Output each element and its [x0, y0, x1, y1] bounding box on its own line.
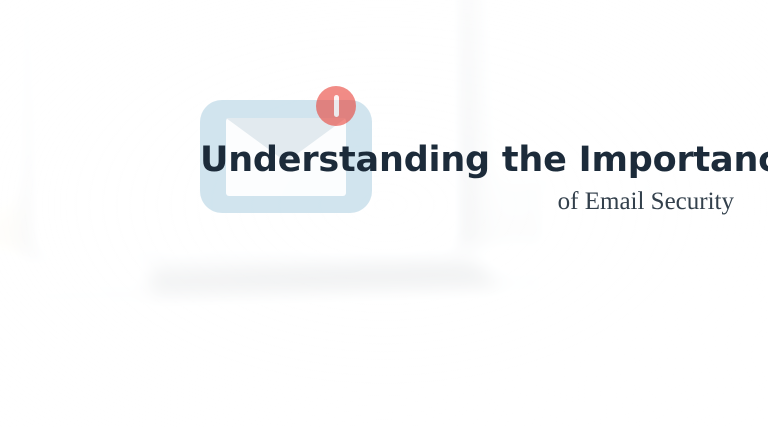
- sidebar-row: [48, 32, 66, 38]
- mail-subject: [194, 0, 390, 12]
- blog-header-banner: Understanding the Importance of Email Se…: [0, 0, 768, 427]
- sidebar-row: [49, 63, 79, 69]
- mail-sender: [128, 94, 180, 101]
- mail-sender: [129, 210, 183, 216]
- sidebar-row: [49, 111, 93, 118]
- mail-time: [422, 234, 445, 240]
- page-title: Understanding the Importance: [200, 140, 734, 180]
- sidebar-row: [49, 96, 61, 102]
- sidebar-row: [48, 16, 62, 22]
- mail-time: [420, 84, 443, 90]
- page-subtitle: of Email Security: [200, 188, 734, 216]
- mug-handle: [636, 210, 700, 286]
- sidebar-row: [50, 209, 80, 215]
- sidebar-row: [49, 47, 89, 54]
- mail-subject: [194, 28, 357, 42]
- exclamation-icon: [334, 95, 339, 117]
- sidebar-row: [49, 80, 69, 86]
- sidebar-row: [50, 160, 76, 166]
- sidebar-row: [50, 177, 72, 183]
- banner-text-block: Understanding the Importance of Email Se…: [200, 140, 734, 216]
- mail-sender: [130, 239, 167, 245]
- mail-subject: [197, 237, 309, 244]
- mail-sender: [129, 152, 187, 159]
- sidebar-row: [50, 193, 67, 198]
- mail-sidebar: [36, 5, 118, 251]
- mail-sender: [129, 123, 177, 130]
- mail-time: [420, 53, 443, 59]
- mail-time: [419, 23, 442, 30]
- laptop-trackpad: [270, 317, 400, 340]
- sidebar-row: [50, 225, 74, 230]
- mail-sender: [127, 8, 181, 16]
- alert-badge-icon: [316, 86, 356, 126]
- mail-sender: [129, 181, 171, 187]
- mail-sender: [128, 66, 167, 73]
- sidebar-row: [50, 144, 84, 150]
- sidebar-row: [49, 128, 65, 134]
- mail-time: [420, 114, 443, 120]
- mail-sender: [128, 37, 174, 44]
- mail-subject: [195, 60, 298, 70]
